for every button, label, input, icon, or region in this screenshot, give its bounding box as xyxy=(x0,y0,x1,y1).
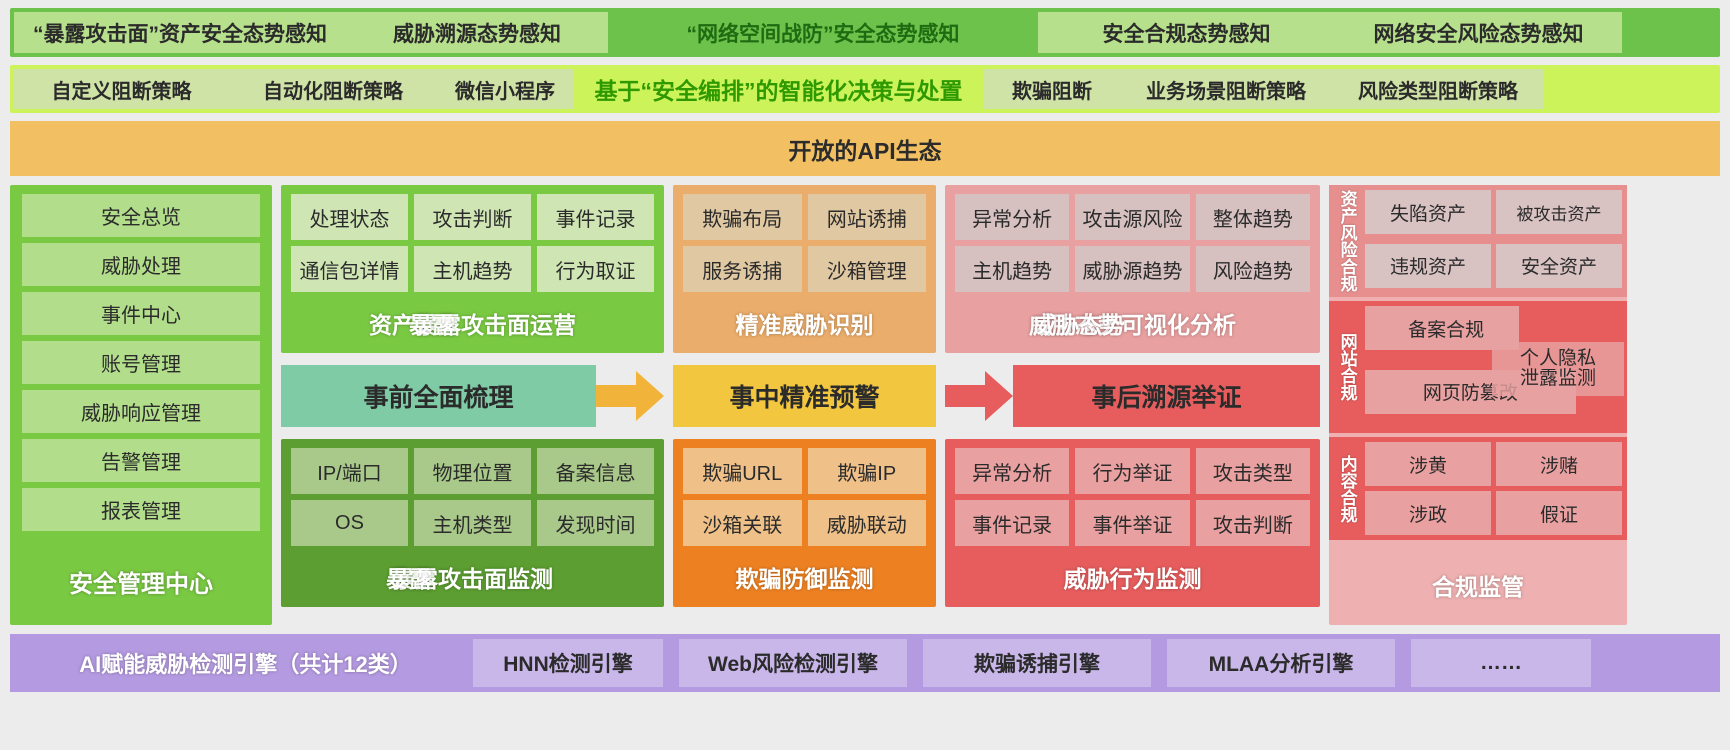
tile-comp-asset-0[interactable]: 失陷资产 xyxy=(1365,190,1491,234)
stage-row-before: 事前全面梳理 xyxy=(281,363,664,429)
compliance-vlabel-content: 内容合规 xyxy=(1334,442,1360,535)
tile-asset-bot-5[interactable]: 发现时间 xyxy=(537,500,654,546)
tile-thr-bot-2[interactable]: 攻击类型 xyxy=(1196,448,1310,494)
tile-asset-top-5[interactable]: 行为取证 xyxy=(537,246,654,292)
strategy-item-1[interactable]: 自动化阻断策略 xyxy=(229,69,437,109)
tile-dec-bot-3[interactable]: 威胁联动 xyxy=(808,500,927,546)
threat-behavior-monitor-title: 威胁行为监测 xyxy=(955,546,1310,607)
tile-comp-content-2[interactable]: 涉政 xyxy=(1365,491,1491,535)
awareness-item-2[interactable]: “网络空间战防”安全态势感知 xyxy=(608,12,1038,53)
compliance-vlabel-asset-risk: 资产风险合规 xyxy=(1334,190,1360,292)
architecture-diagram: “暴露攻击面”资产安全态势感知威胁溯源态势感知“网络空间战防”安全态势感知安全合… xyxy=(0,0,1730,750)
column-security-management: 安全总览 威胁处理 事件中心 账号管理 威胁响应管理 告警管理 报表管理 安全管… xyxy=(10,185,272,625)
asset-exposure-monitor-title: 暴露攻击面监测暴露 xyxy=(291,546,654,607)
awareness-item-0[interactable]: “暴露攻击面”资产安全态势感知 xyxy=(14,12,346,53)
tile-dec-bot-2[interactable]: 沙箱关联 xyxy=(683,500,802,546)
strategy-item-5[interactable]: 业务场景阻断策略 xyxy=(1120,69,1332,109)
tile-dec-top-1[interactable]: 网站诱捕 xyxy=(808,194,927,240)
compliance-section-site: 网站合规 备案合规 网页防篡改 个人隐私 泄露监测 xyxy=(1329,301,1627,433)
stage-after: 事后溯源举证 xyxy=(1013,365,1320,427)
security-management-panel: 安全总览 威胁处理 事件中心 账号管理 威胁响应管理 告警管理 报表管理 安全管… xyxy=(10,185,272,625)
tile-thr-top-0[interactable]: 异常分析 xyxy=(955,194,1069,240)
column-deception: 欺骗布局 网站诱捕 服务诱捕 沙箱管理 精准威胁识别 事中精准预警 欺骗URL … xyxy=(673,185,936,625)
threat-situation-visualization-title: 威胁态势可视化分析威胁态势 xyxy=(955,292,1310,353)
engine-item-3[interactable]: MLAA分析引擎 xyxy=(1167,639,1395,687)
compliance-asset-risk-tiles: 失陷资产 被攻击资产 违规资产 安全资产 xyxy=(1365,190,1622,292)
precise-threat-identification-panel: 欺骗布局 网站诱捕 服务诱捕 沙箱管理 精准威胁识别 xyxy=(673,185,936,353)
sidebar-item-3[interactable]: 账号管理 xyxy=(22,341,260,384)
tile-dec-bot-1[interactable]: 欺骗IP xyxy=(808,448,927,494)
tile-asset-top-4[interactable]: 主机趋势 xyxy=(414,246,531,292)
awareness-item-3[interactable]: 安全合规态势感知 xyxy=(1038,12,1335,53)
engine-item-4[interactable]: …… xyxy=(1411,639,1591,687)
ai-engine-band: AI赋能威胁检测引擎（共计12类）HNN检测引擎Web风险检测引擎欺骗诱捕引擎M… xyxy=(10,634,1720,692)
asset-exposure-monitor-tiles: IP/端口 物理位置 备案信息 OS 主机类型 发现时间 xyxy=(291,448,654,546)
compliance-section-asset-risk: 资产风险合规 失陷资产 被攻击资产 违规资产 安全资产 xyxy=(1329,185,1627,297)
asset-exposure-monitor-panel: IP/端口 物理位置 备案信息 OS 主机类型 发现时间 暴露攻击面监测暴露 xyxy=(281,439,664,607)
compliance-vlabel-site: 网站合规 xyxy=(1334,306,1360,428)
tile-asset-bot-4[interactable]: 主机类型 xyxy=(414,500,531,546)
compliance-section-content: 内容合规 涉黄 涉赌 涉政 假证 xyxy=(1329,437,1627,540)
overlap-title-artifact: 威胁态势 xyxy=(1033,306,1125,340)
tile-thr-top-4[interactable]: 威胁源趋势 xyxy=(1075,246,1189,292)
sidebar-item-2[interactable]: 事件中心 xyxy=(22,292,260,335)
tile-comp-content-3[interactable]: 假证 xyxy=(1496,491,1622,535)
compliance-site-tiles: 备案合规 网页防篡改 个人隐私 泄露监测 xyxy=(1365,306,1622,428)
deception-defense-monitor-panel: 欺骗URL 欺骗IP 沙箱关联 威胁联动 欺骗防御监测 xyxy=(673,439,936,607)
tile-thr-top-2[interactable]: 整体趋势 xyxy=(1196,194,1310,240)
overlap-title-artifact: 暴露 xyxy=(386,560,432,594)
tile-asset-top-3[interactable]: 通信包详情 xyxy=(291,246,408,292)
tile-thr-bot-5[interactable]: 攻击判断 xyxy=(1196,500,1310,546)
overlap-title-artifact: 暴露 xyxy=(409,306,455,340)
column-threat: 异常分析 攻击源风险 整体趋势 主机趋势 威胁源趋势 风险趋势 威胁态势可视化分… xyxy=(945,185,1320,625)
tile-thr-bot-4[interactable]: 事件举证 xyxy=(1075,500,1189,546)
strategy-item-0[interactable]: 自定义阻断策略 xyxy=(14,69,229,109)
deception-defense-monitor-tiles: 欺骗URL 欺骗IP 沙箱关联 威胁联动 xyxy=(683,448,926,546)
tile-thr-bot-3[interactable]: 事件记录 xyxy=(955,500,1069,546)
engine-item-1[interactable]: Web风险检测引擎 xyxy=(679,639,907,687)
strategy-item-6[interactable]: 风险类型阻断策略 xyxy=(1332,69,1544,109)
precise-threat-identification-tiles: 欺骗布局 网站诱捕 服务诱捕 沙箱管理 xyxy=(683,194,926,292)
sidebar-item-4[interactable]: 威胁响应管理 xyxy=(22,390,260,433)
stage-row-after: 事后溯源举证 xyxy=(945,363,1320,429)
strategy-item-3[interactable]: 基于“安全编排”的智能化决策与处置 xyxy=(573,69,984,109)
threat-behavior-monitor-panel: 异常分析 行为举证 攻击类型 事件记录 事件举证 攻击判断 威胁行为监测 xyxy=(945,439,1320,607)
arrow-during-to-after xyxy=(945,365,1013,427)
tile-asset-top-0[interactable]: 处理状态 xyxy=(291,194,408,240)
compliance-panel: 资产风险合规 失陷资产 被攻击资产 违规资产 安全资产 网站合规 备案合规 网页… xyxy=(1329,185,1627,625)
strategy-item-2[interactable]: 微信小程序 xyxy=(437,69,573,109)
arrow-before-to-during xyxy=(596,365,664,427)
threat-behavior-monitor-tiles: 异常分析 行为举证 攻击类型 事件记录 事件举证 攻击判断 xyxy=(955,448,1310,546)
compliance-title: 合规监管 xyxy=(1329,544,1627,625)
tile-dec-bot-0[interactable]: 欺骗URL xyxy=(683,448,802,494)
tile-comp-asset-1[interactable]: 被攻击资产 xyxy=(1496,190,1622,234)
sidebar-item-6[interactable]: 报表管理 xyxy=(22,488,260,531)
main-grid: 安全总览 威胁处理 事件中心 账号管理 威胁响应管理 告警管理 报表管理 安全管… xyxy=(10,185,1720,625)
tile-thr-top-1[interactable]: 攻击源风险 xyxy=(1075,194,1189,240)
asset-exposure-operation-title: 资产暴露攻击面运营暴露 xyxy=(291,292,654,353)
situational-awareness-band: “暴露攻击面”资产安全态势感知威胁溯源态势感知“网络空间战防”安全态势感知安全合… xyxy=(10,8,1720,57)
precise-threat-identification-title: 精准威胁识别 xyxy=(683,292,926,353)
column-compliance: 资产风险合规 失陷资产 被攻击资产 违规资产 安全资产 网站合规 备案合规 网页… xyxy=(1329,185,1627,625)
strategy-item-4[interactable]: 欺骗阻断 xyxy=(984,69,1120,109)
column-asset-exposure: 处理状态 攻击判断 事件记录 通信包详情 主机趋势 行为取证 资产暴露攻击面运营… xyxy=(281,185,664,625)
engine-item-0[interactable]: HNN检测引擎 xyxy=(473,639,663,687)
tile-asset-bot-3[interactable]: OS xyxy=(291,500,408,546)
awareness-item-4[interactable]: 网络安全风险态势感知 xyxy=(1335,12,1622,53)
security-management-title: 安全管理中心 xyxy=(22,537,260,625)
api-ecosystem-band: 开放的API生态 xyxy=(10,121,1720,176)
sidebar-item-1[interactable]: 威胁处理 xyxy=(22,243,260,286)
tile-dec-top-0[interactable]: 欺骗布局 xyxy=(683,194,802,240)
tile-comp-asset-2[interactable]: 违规资产 xyxy=(1365,244,1491,288)
tile-asset-top-2[interactable]: 事件记录 xyxy=(537,194,654,240)
tile-thr-top-3[interactable]: 主机趋势 xyxy=(955,246,1069,292)
tile-asset-bot-2[interactable]: 备案信息 xyxy=(537,448,654,494)
tile-comp-content-1[interactable]: 涉赌 xyxy=(1496,442,1622,486)
threat-situation-visualization-tiles: 异常分析 攻击源风险 整体趋势 主机趋势 威胁源趋势 风险趋势 xyxy=(955,194,1310,292)
engine-item-2[interactable]: 欺骗诱捕引擎 xyxy=(923,639,1151,687)
stage-row-during: 事中精准预警 xyxy=(673,363,936,429)
stage-during: 事中精准预警 xyxy=(673,365,936,427)
tile-asset-top-1[interactable]: 攻击判断 xyxy=(414,194,531,240)
compliance-content-tiles: 涉黄 涉赌 涉政 假证 xyxy=(1365,442,1622,535)
tile-thr-top-5[interactable]: 风险趋势 xyxy=(1196,246,1310,292)
tile-dec-top-2[interactable]: 服务诱捕 xyxy=(683,246,802,292)
awareness-item-1[interactable]: 威胁溯源态势感知 xyxy=(346,12,608,53)
tile-comp-content-0[interactable]: 涉黄 xyxy=(1365,442,1491,486)
stage-before: 事前全面梳理 xyxy=(281,365,596,427)
blocking-strategy-band: 自定义阻断策略自动化阻断策略微信小程序基于“安全编排”的智能化决策与处置欺骗阻断… xyxy=(10,65,1720,113)
tile-thr-bot-1[interactable]: 行为举证 xyxy=(1075,448,1189,494)
threat-situation-visualization-panel: 异常分析 攻击源风险 整体趋势 主机趋势 威胁源趋势 风险趋势 威胁态势可视化分… xyxy=(945,185,1320,353)
tile-asset-bot-0[interactable]: IP/端口 xyxy=(291,448,408,494)
tile-dec-top-3[interactable]: 沙箱管理 xyxy=(808,246,927,292)
sidebar-item-5[interactable]: 告警管理 xyxy=(22,439,260,482)
tile-asset-bot-1[interactable]: 物理位置 xyxy=(414,448,531,494)
asset-exposure-operation-tiles: 处理状态 攻击判断 事件记录 通信包详情 主机趋势 行为取证 xyxy=(291,194,654,292)
ai-engine-title: AI赋能威胁检测引擎（共计12类） xyxy=(18,647,473,679)
tile-thr-bot-0[interactable]: 异常分析 xyxy=(955,448,1069,494)
deception-defense-monitor-title: 欺骗防御监测 xyxy=(683,546,926,607)
asset-exposure-operation-panel: 处理状态 攻击判断 事件记录 通信包详情 主机趋势 行为取证 资产暴露攻击面运营… xyxy=(281,185,664,353)
sidebar-item-0[interactable]: 安全总览 xyxy=(22,194,260,237)
tile-comp-asset-3[interactable]: 安全资产 xyxy=(1496,244,1622,288)
tile-comp-site-privacy-overlay[interactable]: 个人隐私 泄露监测 xyxy=(1492,342,1624,396)
